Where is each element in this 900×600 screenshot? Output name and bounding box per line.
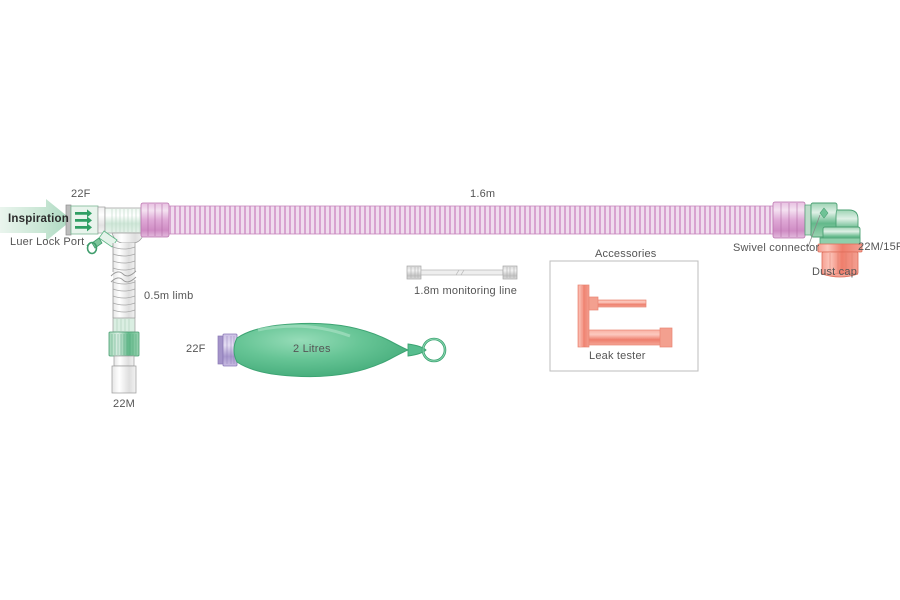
bag-volume-label: 2 Litres	[293, 343, 331, 355]
swivel-connector	[805, 203, 860, 247]
diagram-canvas: Inspiration 22F Luer Lock Port 0.5m limb…	[0, 0, 900, 600]
luer-lock-port-label: Luer Lock Port	[10, 236, 84, 248]
ypiece-size-label: 22F	[71, 188, 91, 200]
breathing-circuit-illustration	[0, 0, 900, 600]
inspiration-label: Inspiration	[8, 213, 69, 225]
tube-corrugations	[170, 206, 770, 234]
main-breathing-tube-1-6m	[141, 202, 805, 238]
limb-length-label: 0.5m limb	[144, 290, 193, 302]
main-tube-length-label: 1.6m	[470, 188, 495, 200]
patient-port-size-label: 22M/15F	[858, 241, 900, 253]
monitoring-line	[407, 266, 517, 279]
swivel-connector-label: Swivel connector	[733, 242, 819, 254]
breathing-bag	[218, 323, 445, 376]
leak-tester-label: Leak tester	[589, 350, 646, 362]
bag-size-label: 22F	[186, 343, 206, 355]
expiratory-limb-0-5m	[109, 243, 139, 393]
limb-end-size-label: 22M	[113, 398, 135, 410]
accessories-label: Accessories	[595, 248, 657, 260]
dust-cap-label: Dust cap	[812, 266, 857, 278]
monitoring-line-label: 1.8m monitoring line	[414, 285, 517, 297]
